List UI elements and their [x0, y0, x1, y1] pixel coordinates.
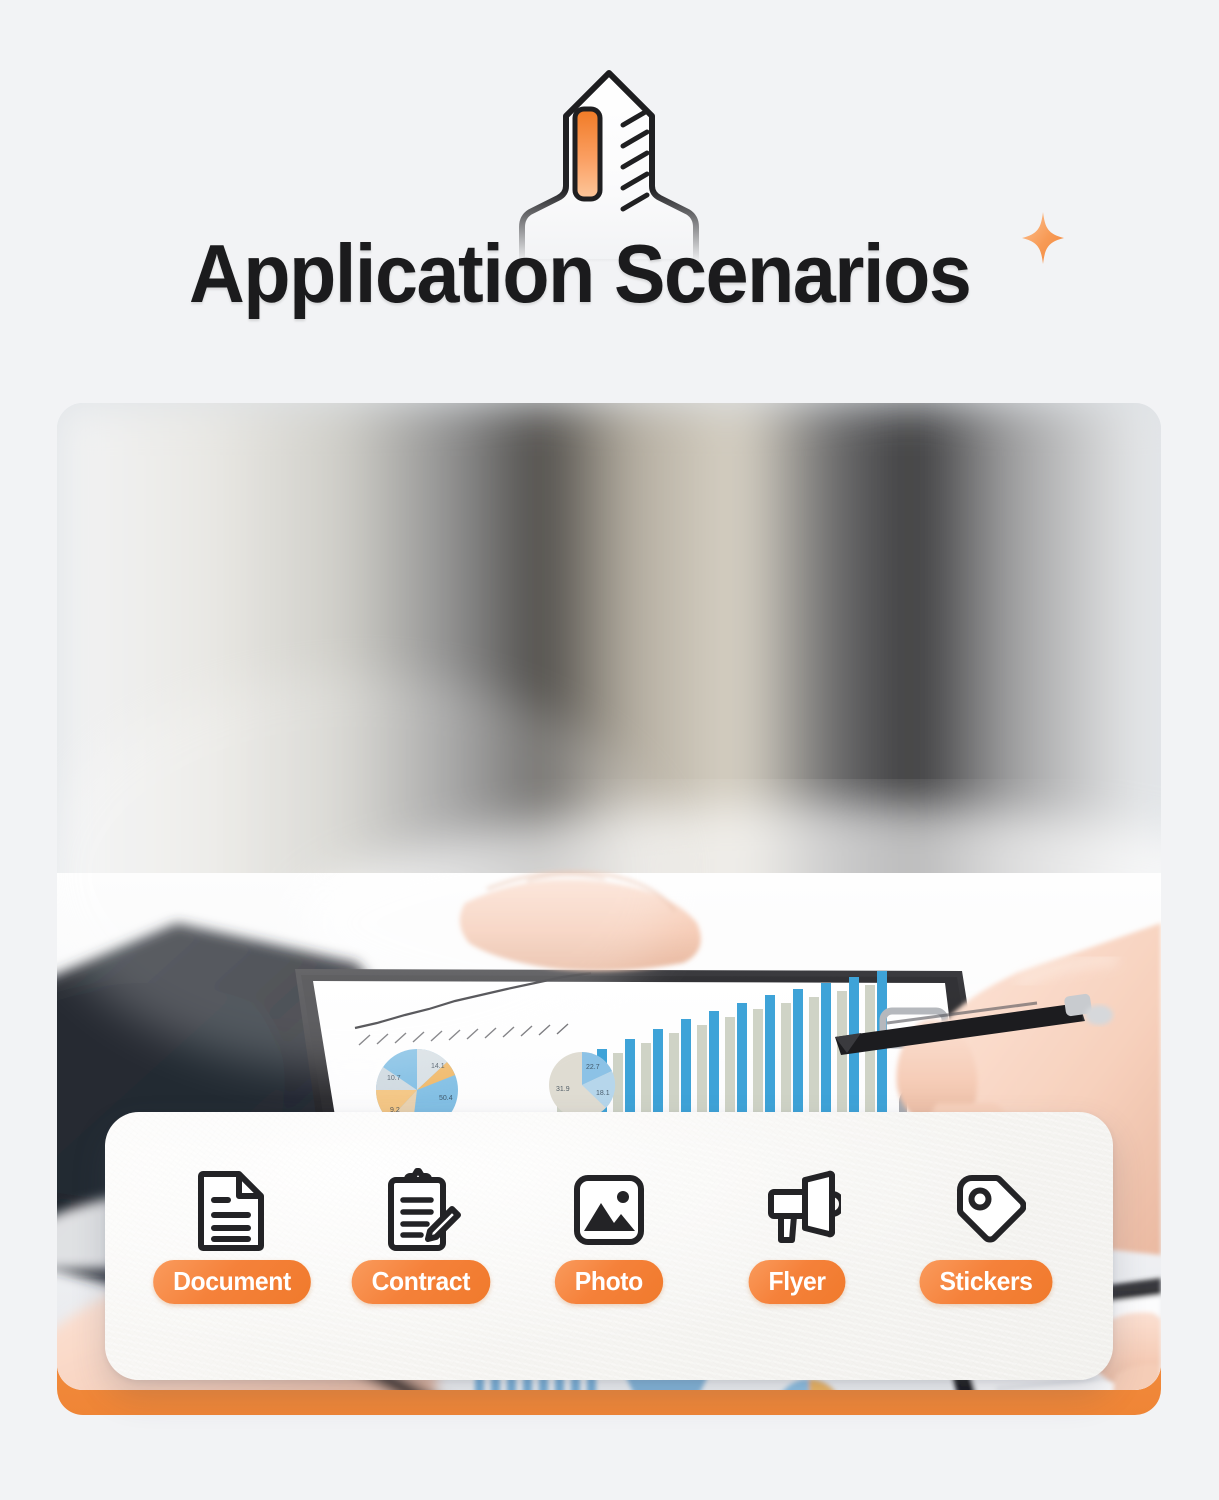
- scenario-label-contract: Contract: [351, 1260, 489, 1304]
- page-title: Application Scenarios: [189, 232, 970, 315]
- price-tag-icon: [946, 1168, 1026, 1252]
- image-photo-icon: [571, 1168, 647, 1252]
- svg-text:50.4: 50.4: [439, 1095, 453, 1102]
- scenario-tile-contract[interactable]: Contract: [332, 1168, 510, 1304]
- svg-text:31.9: 31.9: [556, 1086, 570, 1093]
- svg-text:10.7: 10.7: [387, 1075, 401, 1082]
- scenario-label-photo: Photo: [555, 1260, 663, 1304]
- svg-text:22.7: 22.7: [586, 1064, 600, 1071]
- sparkle-star-icon: [1020, 210, 1066, 266]
- tower-window: [575, 109, 600, 199]
- scenario-label-document: Document: [153, 1260, 311, 1304]
- document-icon: [195, 1168, 269, 1252]
- scenario-label-flyer: Flyer: [749, 1260, 846, 1304]
- scenario-label-stickers: Stickers: [919, 1260, 1052, 1304]
- scenario-tile-stickers[interactable]: Stickers: [897, 1168, 1075, 1304]
- scenario-tile-photo[interactable]: Photo: [520, 1168, 698, 1304]
- scenario-card: Document Contract: [105, 1112, 1113, 1380]
- megaphone-icon: [755, 1168, 841, 1252]
- header-section: Application Scenarios: [0, 0, 1219, 400]
- svg-text:18.1: 18.1: [596, 1090, 610, 1097]
- clipboard-pencil-icon: [381, 1168, 461, 1252]
- scenario-tile-flyer[interactable]: Flyer: [709, 1168, 887, 1304]
- scenario-tile-document[interactable]: Document: [143, 1168, 321, 1304]
- scenario-tiles: Document Contract: [105, 1168, 1113, 1338]
- title-row: Application Scenarios: [0, 232, 1219, 315]
